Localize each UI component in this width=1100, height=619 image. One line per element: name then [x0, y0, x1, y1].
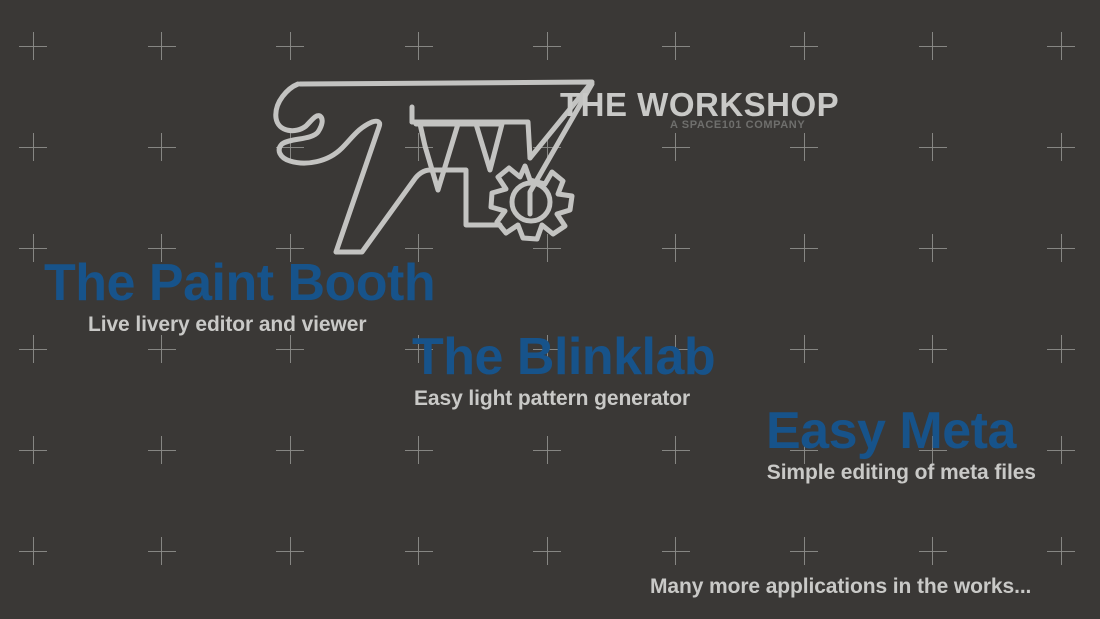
crosshair-mark-icon — [19, 133, 47, 161]
product-block-blinklab[interactable]: The Blinklab Easy light pattern generato… — [412, 328, 715, 412]
brand-subtitle: A SPACE101 COMPANY — [670, 118, 805, 132]
crosshair-mark-icon — [148, 436, 176, 464]
crosshair-mark-icon — [662, 436, 690, 464]
product-subtitle-paint-booth: Live livery editor and viewer — [88, 312, 435, 338]
product-block-easy-meta[interactable]: Easy Meta Simple editing of meta files — [766, 402, 1016, 486]
crosshair-mark-icon — [533, 133, 561, 161]
crosshair-mark-icon — [533, 32, 561, 60]
product-title-paint-booth: The Paint Booth — [44, 254, 435, 312]
crosshair-mark-icon — [276, 32, 304, 60]
crosshair-mark-icon — [276, 537, 304, 565]
crosshair-mark-icon — [405, 436, 433, 464]
product-subtitle-easy-meta: Simple editing of meta files — [766, 460, 1036, 486]
crosshair-mark-icon — [919, 234, 947, 262]
crosshair-mark-icon — [533, 436, 561, 464]
crosshair-mark-icon — [662, 234, 690, 262]
crosshair-mark-icon — [790, 234, 818, 262]
crosshair-mark-icon — [919, 537, 947, 565]
workshop-splash-screen: THE WORKSHOP A SPACE101 COMPANY The Pain… — [0, 0, 1100, 619]
crosshair-mark-icon — [19, 32, 47, 60]
workshop-tw-wrench-gear-logo-icon — [262, 62, 602, 262]
crosshair-mark-icon — [790, 537, 818, 565]
crosshair-mark-icon — [533, 234, 561, 262]
crosshair-mark-icon — [1047, 436, 1075, 464]
crosshair-mark-icon — [1047, 133, 1075, 161]
crosshair-mark-icon — [19, 234, 47, 262]
crosshair-mark-icon — [1047, 32, 1075, 60]
product-title-easy-meta: Easy Meta — [766, 402, 1016, 460]
crosshair-mark-icon — [405, 32, 433, 60]
crosshair-mark-icon — [19, 436, 47, 464]
crosshair-mark-icon — [148, 537, 176, 565]
crosshair-mark-icon — [19, 537, 47, 565]
crosshair-mark-icon — [148, 32, 176, 60]
wordmark: THE WORKSHOP A SPACE101 COMPANY — [560, 85, 860, 145]
crosshair-mark-icon — [405, 537, 433, 565]
product-block-paint-booth[interactable]: The Paint Booth Live livery editor and v… — [44, 254, 435, 338]
crosshair-mark-icon — [919, 335, 947, 363]
brand-title: THE WORKSHOP — [560, 85, 839, 125]
crosshair-mark-icon — [405, 133, 433, 161]
crosshair-mark-icon — [662, 32, 690, 60]
product-subtitle-blinklab: Easy light pattern generator — [414, 386, 715, 412]
crosshair-mark-icon — [19, 335, 47, 363]
crosshair-mark-icon — [919, 133, 947, 161]
crosshair-mark-icon — [790, 32, 818, 60]
crosshair-mark-icon — [148, 133, 176, 161]
crosshair-mark-icon — [662, 133, 690, 161]
crosshair-mark-icon — [276, 335, 304, 363]
crosshair-mark-icon — [919, 32, 947, 60]
crosshair-mark-icon — [276, 436, 304, 464]
crosshair-mark-icon — [148, 335, 176, 363]
crosshair-mark-icon — [533, 537, 561, 565]
crosshair-mark-icon — [276, 133, 304, 161]
crosshair-mark-icon — [1047, 234, 1075, 262]
footer-note: Many more applications in the works... — [650, 574, 1031, 600]
product-title-blinklab: The Blinklab — [412, 328, 715, 386]
crosshair-mark-icon — [662, 537, 690, 565]
crosshair-mark-icon — [1047, 537, 1075, 565]
crosshair-mark-icon — [790, 133, 818, 161]
crosshair-mark-icon — [790, 335, 818, 363]
crosshair-mark-icon — [1047, 335, 1075, 363]
